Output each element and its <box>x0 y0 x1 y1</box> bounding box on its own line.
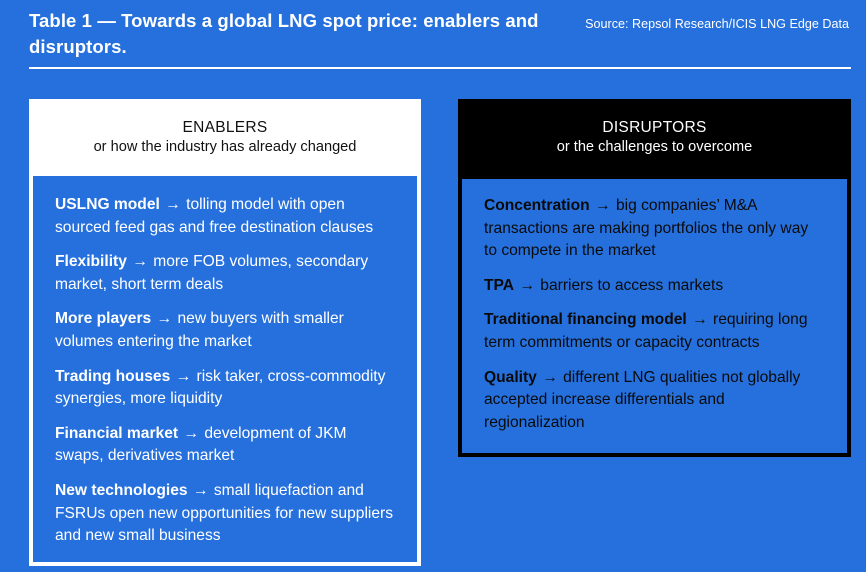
list-item: Flexibility → more FOB volumes, secondar… <box>55 251 395 296</box>
arrow-icon: → <box>170 368 196 385</box>
arrow-icon: → <box>151 310 177 327</box>
item-term: USLNG model <box>55 196 160 213</box>
disruptors-subheading: or the challenges to overcome <box>557 138 753 157</box>
disruptors-card-header: DISRUPTORS or the challenges to overcome <box>458 99 851 175</box>
arrow-icon: → <box>127 253 153 270</box>
arrow-icon: → <box>687 311 713 328</box>
page-title: Table 1 — Towards a global LNG spot pric… <box>29 8 549 60</box>
disruptors-heading: DISRUPTORS <box>602 118 706 138</box>
item-term: Traditional financing model <box>484 311 687 328</box>
header-divider <box>29 67 851 69</box>
figure-header: Table 1 — Towards a global LNG spot pric… <box>0 0 866 78</box>
list-item: Trading houses → risk taker, cross-commo… <box>55 366 395 411</box>
item-term: Flexibility <box>55 253 127 270</box>
source-attribution: Source: Repsol Research/ICIS LNG Edge Da… <box>549 16 849 33</box>
list-item: Financial market → development of JKM sw… <box>55 423 395 468</box>
list-item: Quality → different LNG qualities not gl… <box>484 367 825 435</box>
list-item: Traditional financing model → requiring … <box>484 309 825 354</box>
item-term: More players <box>55 310 151 327</box>
item-term: Quality <box>484 369 537 386</box>
arrow-icon: → <box>590 197 616 214</box>
enablers-heading: ENABLERS <box>182 118 267 138</box>
item-term: Concentration <box>484 197 590 214</box>
item-term: New technologies <box>55 482 188 499</box>
disruptors-list: Concentration → big companies’ M&A trans… <box>458 175 851 457</box>
item-description: barriers to access markets <box>540 277 723 294</box>
enablers-card-header: ENABLERS or how the industry has already… <box>29 99 421 176</box>
item-term: Financial market <box>55 425 178 442</box>
list-item: USLNG model → tolling model with open so… <box>55 194 395 239</box>
arrow-icon: → <box>178 425 204 442</box>
disruptors-card: DISRUPTORS or the challenges to overcome… <box>458 99 851 457</box>
arrow-icon: → <box>537 369 563 386</box>
item-term: Trading houses <box>55 368 170 385</box>
list-item: New technologies → small liquefaction an… <box>55 480 395 548</box>
arrow-icon: → <box>514 277 540 294</box>
arrow-icon: → <box>188 482 214 499</box>
list-item: Concentration → big companies’ M&A trans… <box>484 195 825 263</box>
list-item: TPA → barriers to access markets <box>484 275 825 298</box>
list-item: More players → new buyers with smaller v… <box>55 308 395 353</box>
table-figure: Table 1 — Towards a global LNG spot pric… <box>0 0 866 572</box>
enablers-subheading: or how the industry has already changed <box>94 138 357 157</box>
item-term: TPA <box>484 277 514 294</box>
arrow-icon: → <box>160 196 186 213</box>
enablers-list: USLNG model → tolling model with open so… <box>33 178 417 558</box>
enablers-card: ENABLERS or how the industry has already… <box>29 99 421 566</box>
